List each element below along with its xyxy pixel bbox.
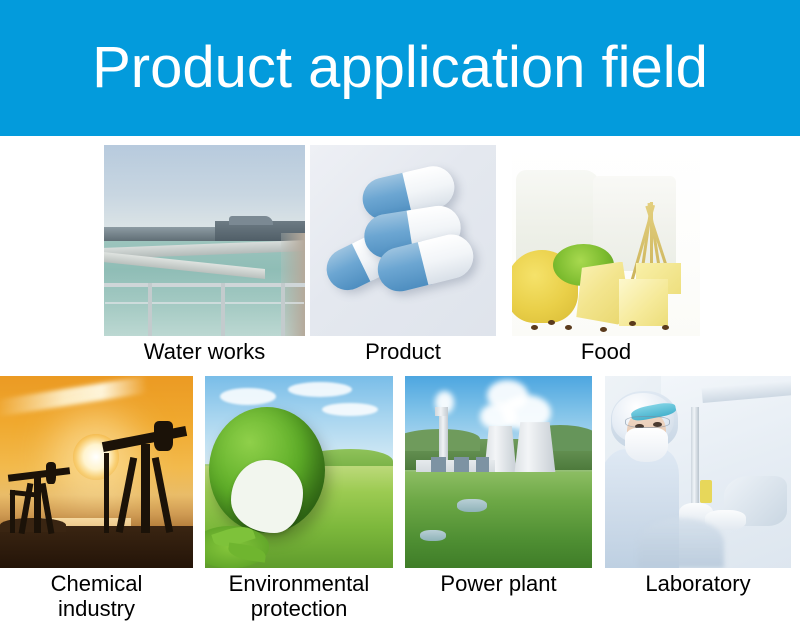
card-food[interactable]: Food	[512, 145, 700, 364]
cooling-towers-steam-image	[405, 376, 592, 568]
thumbnail-water-works	[104, 145, 305, 336]
caption-environmental-protection: Environmental protection	[205, 568, 393, 621]
water-treatment-plant-image	[104, 145, 305, 336]
lab-technician-image	[605, 376, 791, 568]
caption-laboratory: Laboratory	[605, 568, 791, 596]
caption-water-works: Water works	[104, 336, 305, 364]
thumbnail-chemical-industry	[0, 376, 193, 568]
thumbnail-environmental-protection	[205, 376, 393, 568]
card-environmental-protection[interactable]: Environmental protection	[205, 376, 393, 621]
card-water-works[interactable]: Water works	[104, 145, 305, 364]
thumbnail-food	[512, 145, 700, 336]
caption-product: Product	[310, 336, 496, 364]
page-title: Product application field	[92, 39, 708, 97]
product-application-field-page: Product application field Water works	[0, 0, 800, 635]
blue-white-capsules-image	[310, 145, 496, 336]
thumbnail-power-plant	[405, 376, 592, 568]
caption-chemical-industry: Chemical industry	[0, 568, 193, 621]
oil-pumpjack-sunset-image	[0, 376, 193, 568]
page-banner: Product application field	[0, 0, 800, 136]
thumbnail-product	[310, 145, 496, 336]
card-product[interactable]: Product	[310, 145, 496, 364]
caption-food: Food	[512, 336, 700, 364]
card-power-plant[interactable]: Power plant	[405, 376, 592, 596]
caption-power-plant: Power plant	[405, 568, 592, 596]
dairy-cheese-pasta-image	[512, 145, 700, 336]
card-laboratory[interactable]: Laboratory	[605, 376, 791, 596]
green-leaf-globe-image	[205, 376, 393, 568]
card-chemical-industry[interactable]: Chemical industry	[0, 376, 193, 621]
thumbnail-laboratory	[605, 376, 791, 568]
